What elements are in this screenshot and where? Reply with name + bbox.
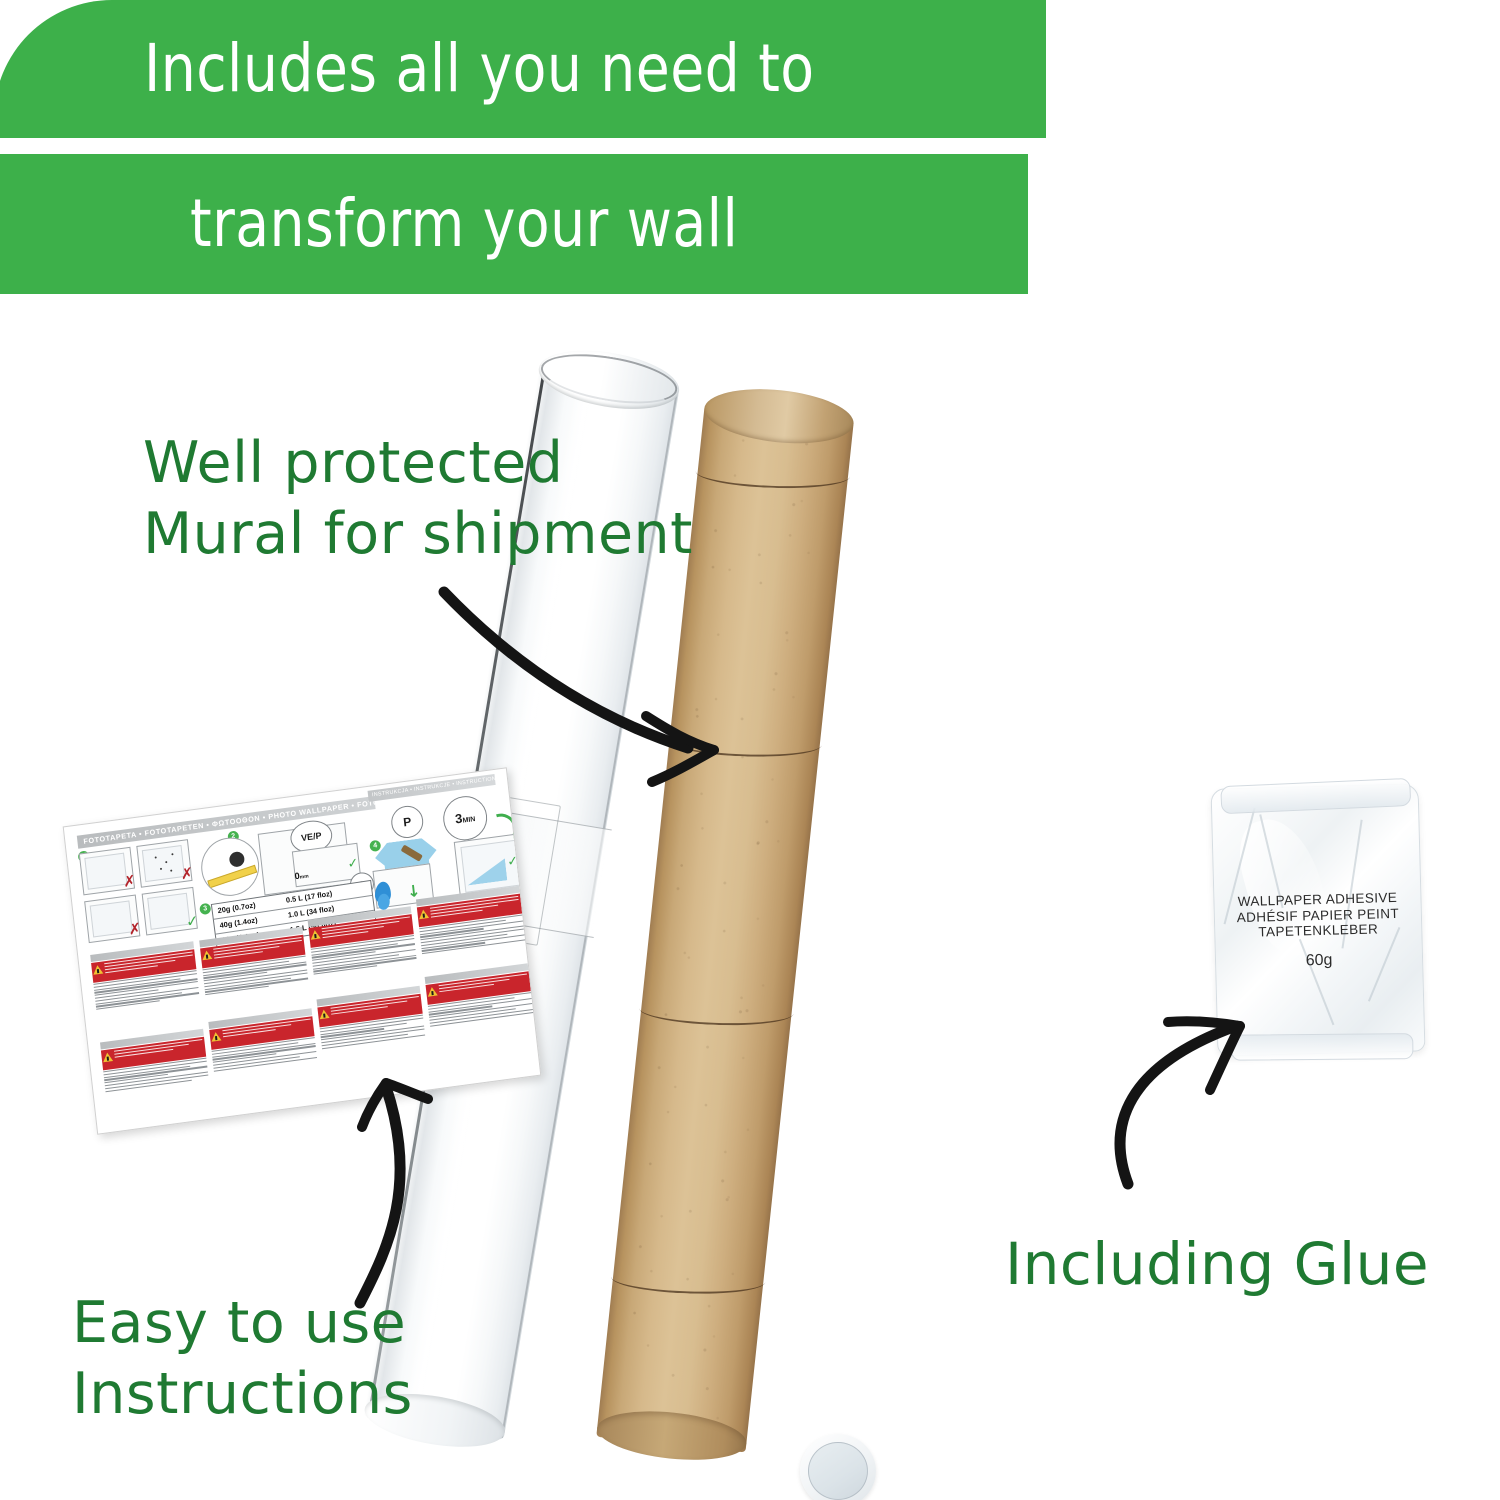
headline-banner-top-text: Includes all you need to (144, 36, 815, 102)
caption-easy-to-use-instructions: Easy to use Instructions (72, 1288, 413, 1431)
warning-triangle-icon (319, 1009, 330, 1019)
warning-column (90, 941, 199, 1011)
headline-banner-top: Includes all you need to (0, 0, 1046, 138)
warning-triangle-icon (92, 965, 103, 975)
warning-triangle-icon (310, 929, 321, 939)
zero-gap-label: 0mm (294, 870, 309, 882)
warning-column (316, 986, 425, 1051)
step-badge-4: 4 (369, 840, 381, 852)
pictogram-cell: ✗ (79, 847, 135, 896)
caption-well-protected-mural: Well protected Mural for shipment (143, 428, 693, 571)
green-check-arrow: ✓ (347, 857, 359, 871)
water-droplet-icon (375, 882, 392, 904)
down-arrow-green: ↓ (406, 883, 421, 901)
measuring-detail-circle (198, 834, 262, 899)
end-cap-inner-face (808, 1442, 868, 1500)
green-check-final: ✓ (507, 855, 519, 869)
warning-column (100, 1029, 209, 1094)
cross-mark: ✗ (122, 873, 136, 890)
caption-including-glue: Including Glue (1005, 1228, 1429, 1301)
step-badge-3: 3 (199, 903, 211, 915)
pictogram-cell: ✓ (142, 887, 198, 936)
headline-banner-bottom-text: transform your wall (190, 191, 738, 257)
paste-bubble-large: P (390, 804, 425, 840)
warning-triangle-icon (418, 909, 429, 919)
arrow-to-instructions (320, 1055, 550, 1315)
warning-column (308, 906, 417, 976)
warning-triangle-icon (211, 1031, 222, 1041)
pictogram-cell: ✗ (136, 839, 192, 888)
wallpaper-roll-icon (229, 851, 246, 868)
tube-end-cap (800, 1434, 876, 1500)
measuring-tape-icon (207, 865, 257, 889)
cross-mark: ✗ (128, 921, 142, 938)
warning-column (199, 927, 308, 997)
adhesive-packet-label: WALLPAPER ADHESIVE ADHÉSIF PAPIER PEINT … (1213, 889, 1422, 941)
wall-condition-pictograms: 1 ✗ ✗ ✗ ✓ (79, 839, 200, 945)
arrow-to-glue (1040, 940, 1290, 1190)
check-mark: ✓ (185, 913, 199, 930)
pictogram-cell: ✗ (84, 894, 140, 943)
warning-column (416, 886, 525, 956)
warning-triangle-icon (427, 986, 438, 996)
infographic-canvas: Includes all you need to transform your … (0, 0, 1500, 1500)
warning-column (425, 963, 534, 1028)
cross-mark: ✗ (180, 866, 194, 883)
warning-column (208, 1008, 317, 1073)
warning-triangle-icon (102, 1052, 113, 1062)
arrow-to-mural-tube (430, 570, 810, 820)
headline-banner-bottom: transform your wall (0, 154, 1028, 294)
warning-triangle-icon (201, 950, 212, 960)
